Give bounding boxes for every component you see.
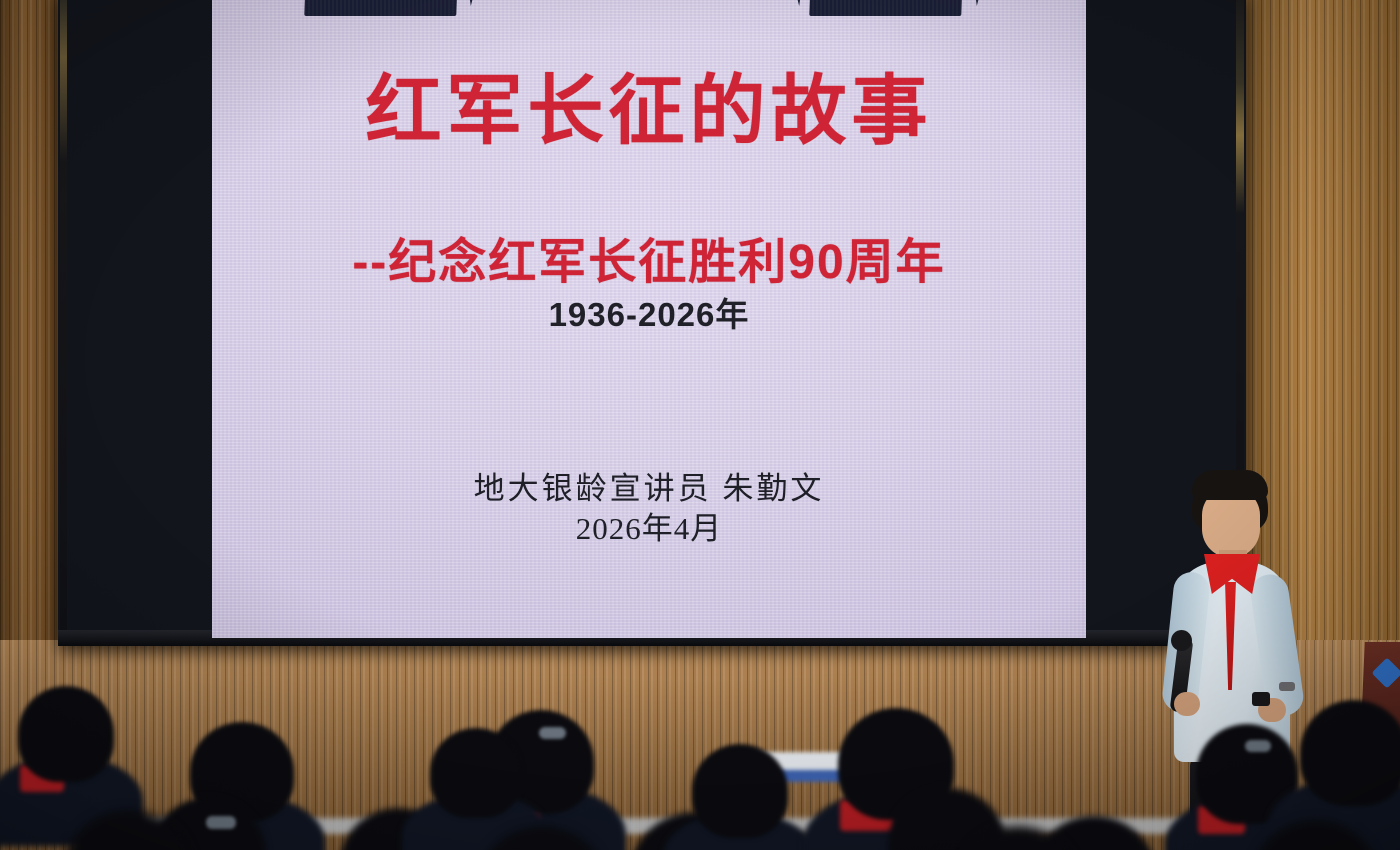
audience-member-head <box>692 744 788 838</box>
slide-date: 2026年4月 <box>212 513 1086 544</box>
audience <box>0 620 1400 850</box>
audience-hair-clip <box>1245 740 1272 752</box>
projected-slide: 红军长征的故事 --纪念红军长征胜利90周年 1936-2026年 地大银龄宣讲… <box>212 0 1086 638</box>
audience-hair-clip <box>539 727 567 739</box>
wood-panel-left <box>0 0 60 700</box>
slide-decoration-tick-b <box>794 0 802 6</box>
slide-subtitle: --纪念红军长征胜利90周年 <box>212 239 1086 287</box>
audience-member-head <box>18 686 114 782</box>
slide-decoration-block-right <box>809 0 962 16</box>
slide-decoration-tick-a <box>468 0 476 6</box>
slide-year-range: 1936-2026年 <box>212 298 1086 331</box>
presenter-fringe <box>1192 470 1268 500</box>
auditorium-photo: 红军长征的故事 --纪念红军长征胜利90周年 1936-2026年 地大银龄宣讲… <box>0 0 1400 850</box>
slide-speaker-name: 地大银龄宣讲员 朱勤文 <box>212 473 1086 504</box>
slide-decoration-tick-c <box>974 0 982 6</box>
slide-title: 红军长征的故事 <box>212 74 1086 150</box>
audience-hair-clip <box>206 816 236 829</box>
audience-member-head <box>430 728 522 818</box>
slide-decoration-block-left <box>304 0 457 16</box>
frame-edge-left <box>60 0 67 644</box>
audience-member-head <box>1300 700 1400 806</box>
